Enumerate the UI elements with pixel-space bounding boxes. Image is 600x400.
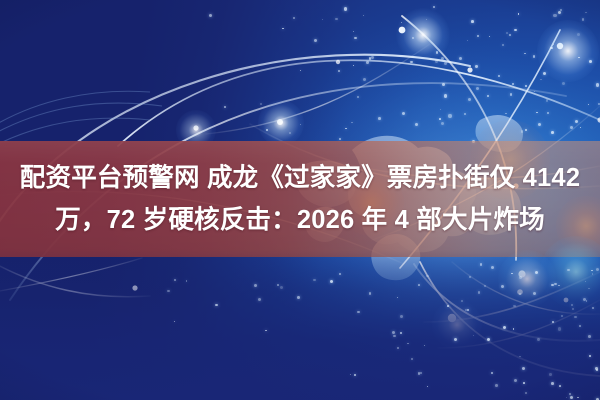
page-title: 配资平台预警网 成龙《过家家》票房扑街仅 4142 万，72 岁硬核反击：202… (4, 157, 596, 241)
headline-line-1: 配资平台预警网 成龙《过家家》票房扑街仅 4142 (4, 157, 596, 199)
banner-image: 配资平台预警网 成龙《过家家》票房扑街仅 4142 万，72 岁硬核反击：202… (0, 0, 600, 400)
headline-band: 配资平台预警网 成龙《过家家》票房扑街仅 4142 万，72 岁硬核反击：202… (0, 141, 600, 257)
headline-line-2: 万，72 岁硬核反击：2026 年 4 部大片炸场 (4, 199, 596, 241)
